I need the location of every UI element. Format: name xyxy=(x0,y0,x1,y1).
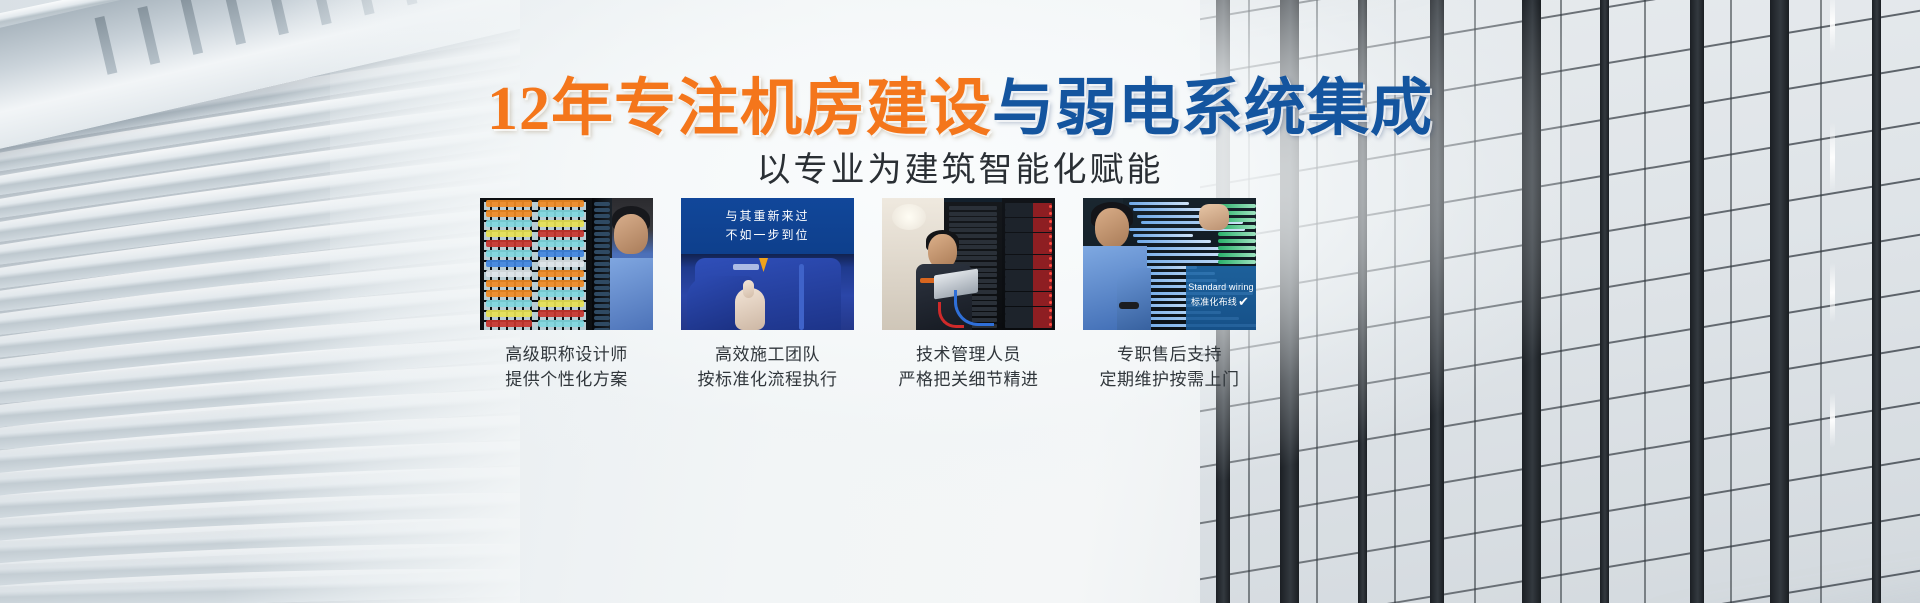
rack-blade xyxy=(1005,225,1052,232)
badge-chinese-label: 标准化布线 xyxy=(1188,297,1240,308)
rack-unit xyxy=(949,206,997,210)
green-fiber-strip xyxy=(1218,246,1256,250)
card-photo-technical-manager xyxy=(882,198,1055,330)
rack-blade xyxy=(1005,292,1052,299)
slogan-line-2: 不如一步到位 xyxy=(681,228,854,243)
side-cable xyxy=(594,226,610,230)
banner-content: 12年专注机房建设与弱电系统集成 以专业为建筑智能化赋能 高级职称设计师 提供 xyxy=(0,0,1920,603)
cable-bundle xyxy=(538,230,584,237)
cable-bundle xyxy=(486,240,532,247)
technician-figure xyxy=(1083,206,1145,330)
rack-unit xyxy=(949,217,997,221)
cable-bundle xyxy=(538,250,584,257)
cable-bundle xyxy=(538,270,584,277)
cable-bundle xyxy=(486,260,532,267)
green-fiber-strip xyxy=(1218,232,1256,236)
rack-blade xyxy=(1005,218,1052,225)
card-caption: 专职售后支持 定期维护按需上门 xyxy=(1065,342,1274,392)
cable-bundle xyxy=(486,280,532,287)
feature-card[interactable]: 技术管理人员 严格把关细节精进 xyxy=(882,198,1055,330)
cable-bundle xyxy=(486,320,532,327)
rack-unit xyxy=(949,228,997,232)
cable-bundle xyxy=(538,310,584,317)
side-cable xyxy=(594,202,610,206)
headline-orange-segment: 12年专注机房建设 xyxy=(487,75,992,143)
ceiling-light xyxy=(892,204,926,230)
rack-blade xyxy=(1005,299,1052,306)
cable-bundle xyxy=(486,270,532,277)
cable-bundle xyxy=(486,310,532,317)
caption-line-1: 高效施工团队 xyxy=(663,342,872,367)
status-led xyxy=(1049,257,1052,260)
badge-english-label: Standard wiring xyxy=(1186,282,1256,293)
technician-figure xyxy=(612,198,653,330)
cable-bundle xyxy=(486,220,532,227)
cable-bundle xyxy=(538,260,584,267)
standard-wiring-badge: Standard wiring 标准化布线 ✔ xyxy=(1186,266,1256,330)
figure-arm xyxy=(1117,268,1151,330)
cable-bundle xyxy=(538,300,584,307)
rack-side-cabling xyxy=(592,198,612,330)
feature-card[interactable]: Standard wiring 标准化布线 ✔ 专职售后支持 定期维护按需上门 xyxy=(1083,198,1256,330)
caption-line-2: 定期维护按需上门 xyxy=(1065,367,1274,392)
status-led xyxy=(1049,272,1052,275)
side-cable xyxy=(594,220,610,224)
feature-card[interactable]: 与其重新来过 不如一步到位 高效施工团队 按标准化流 xyxy=(681,198,854,330)
rack-unit xyxy=(949,212,997,216)
cable-bundle xyxy=(486,210,532,217)
banner-subheadline: 以专业为建筑智能化赋能 xyxy=(0,148,1920,192)
server-rack-right xyxy=(1002,198,1055,330)
status-led xyxy=(1049,309,1052,312)
feature-card[interactable]: 高级职称设计师 提供个性化方案 xyxy=(480,198,653,330)
side-cable xyxy=(594,214,610,218)
side-cable xyxy=(594,322,610,326)
cable-bundle xyxy=(538,290,584,297)
status-led xyxy=(1049,235,1052,238)
green-fiber-strip xyxy=(1218,239,1256,243)
uniform-logo xyxy=(733,264,759,270)
rack-blade xyxy=(1005,255,1052,262)
hero-banner: 12年专注机房建设与弱电系统集成 以专业为建筑智能化赋能 高级职称设计师 提供 xyxy=(0,0,1920,603)
cable-bundle xyxy=(486,300,532,307)
green-fiber-strip xyxy=(1218,260,1256,264)
status-led xyxy=(1049,279,1052,282)
status-led xyxy=(1049,205,1052,208)
cable-bundle xyxy=(486,250,532,257)
patch-panel-rack-icon xyxy=(480,198,592,330)
caption-line-2: 提供个性化方案 xyxy=(462,367,671,392)
cable-bundle xyxy=(486,290,532,297)
rack-blade xyxy=(1005,203,1052,210)
side-cable xyxy=(594,304,610,308)
side-cable xyxy=(594,262,610,266)
status-led xyxy=(1049,220,1052,223)
headline-blue-segment: 与弱电系统集成 xyxy=(992,75,1433,143)
caption-line-1: 专职售后支持 xyxy=(1065,342,1274,367)
rack-blade xyxy=(1005,240,1052,247)
card-caption: 技术管理人员 严格把关细节精进 xyxy=(864,342,1073,392)
blue-cable xyxy=(799,264,804,330)
side-cable xyxy=(594,238,610,242)
fiber-cord xyxy=(1141,247,1229,250)
rack-blade xyxy=(1005,321,1052,328)
status-led xyxy=(1049,294,1052,297)
side-cable xyxy=(594,268,610,272)
second-technician-hand xyxy=(1199,204,1229,230)
cable-bundle xyxy=(538,200,584,207)
rack-blade xyxy=(1005,247,1052,254)
caption-line-2: 按标准化流程执行 xyxy=(663,367,872,392)
side-cable xyxy=(594,250,610,254)
status-led xyxy=(1049,242,1052,245)
side-cable xyxy=(594,280,610,284)
cable-bundle xyxy=(538,320,584,327)
rack-blade xyxy=(1005,284,1052,291)
rack-blade xyxy=(1005,307,1052,314)
side-cable xyxy=(594,286,610,290)
card-photo-construction-team: 与其重新来过 不如一步到位 xyxy=(681,198,854,330)
side-cable xyxy=(594,292,610,296)
side-cable xyxy=(594,244,610,248)
rack-unit xyxy=(949,223,997,227)
figure-head xyxy=(614,214,648,254)
rack-blade xyxy=(1005,233,1052,240)
rack-blade xyxy=(1005,277,1052,284)
side-cable xyxy=(594,256,610,260)
card-photo-after-sales: Standard wiring 标准化布线 ✔ xyxy=(1083,198,1256,330)
cable-bundle xyxy=(538,280,584,287)
side-cable xyxy=(594,316,610,320)
cable-bundle xyxy=(486,230,532,237)
figure-head xyxy=(1095,208,1129,248)
slogan-line-1: 与其重新来过 xyxy=(681,209,854,224)
caption-line-2: 严格把关细节精进 xyxy=(864,367,1073,392)
banner-headline: 12年专注机房建设与弱电系统集成 xyxy=(0,74,1920,144)
rack-blade xyxy=(1005,210,1052,217)
fiber-cord xyxy=(1129,202,1189,205)
status-led xyxy=(1049,316,1052,319)
cable-bundle xyxy=(538,220,584,227)
cable-bundle xyxy=(538,210,584,217)
card-photo-designer xyxy=(480,198,653,330)
side-cable xyxy=(594,274,610,278)
worker-thumbs-up-figure xyxy=(681,254,854,330)
check-icon: ✔ xyxy=(1238,296,1252,308)
rack-blade xyxy=(1005,314,1052,321)
green-fiber-strip xyxy=(1218,253,1256,257)
caption-line-1: 技术管理人员 xyxy=(864,342,1073,367)
side-cable xyxy=(594,298,610,302)
cable-bundle xyxy=(538,240,584,247)
card-caption: 高效施工团队 按标准化流程执行 xyxy=(663,342,872,392)
card-caption: 高级职称设计师 提供个性化方案 xyxy=(462,342,671,392)
rack-blade xyxy=(1005,270,1052,277)
side-cable xyxy=(594,232,610,236)
slogan-band: 与其重新来过 不如一步到位 xyxy=(681,198,854,254)
side-cable xyxy=(594,208,610,212)
caption-line-1: 高级职称设计师 xyxy=(462,342,671,367)
worker-thumb xyxy=(743,280,754,298)
fiber-cord xyxy=(1137,240,1211,243)
feature-card-list: 高级职称设计师 提供个性化方案 与其重新来过 不如一步到位 xyxy=(480,198,1200,408)
side-cable xyxy=(594,310,610,314)
figure-shirt xyxy=(610,258,653,330)
wristwatch xyxy=(1119,302,1139,309)
side-cable xyxy=(594,328,610,330)
rack-blade xyxy=(1005,262,1052,269)
cable-bundle xyxy=(486,200,532,207)
